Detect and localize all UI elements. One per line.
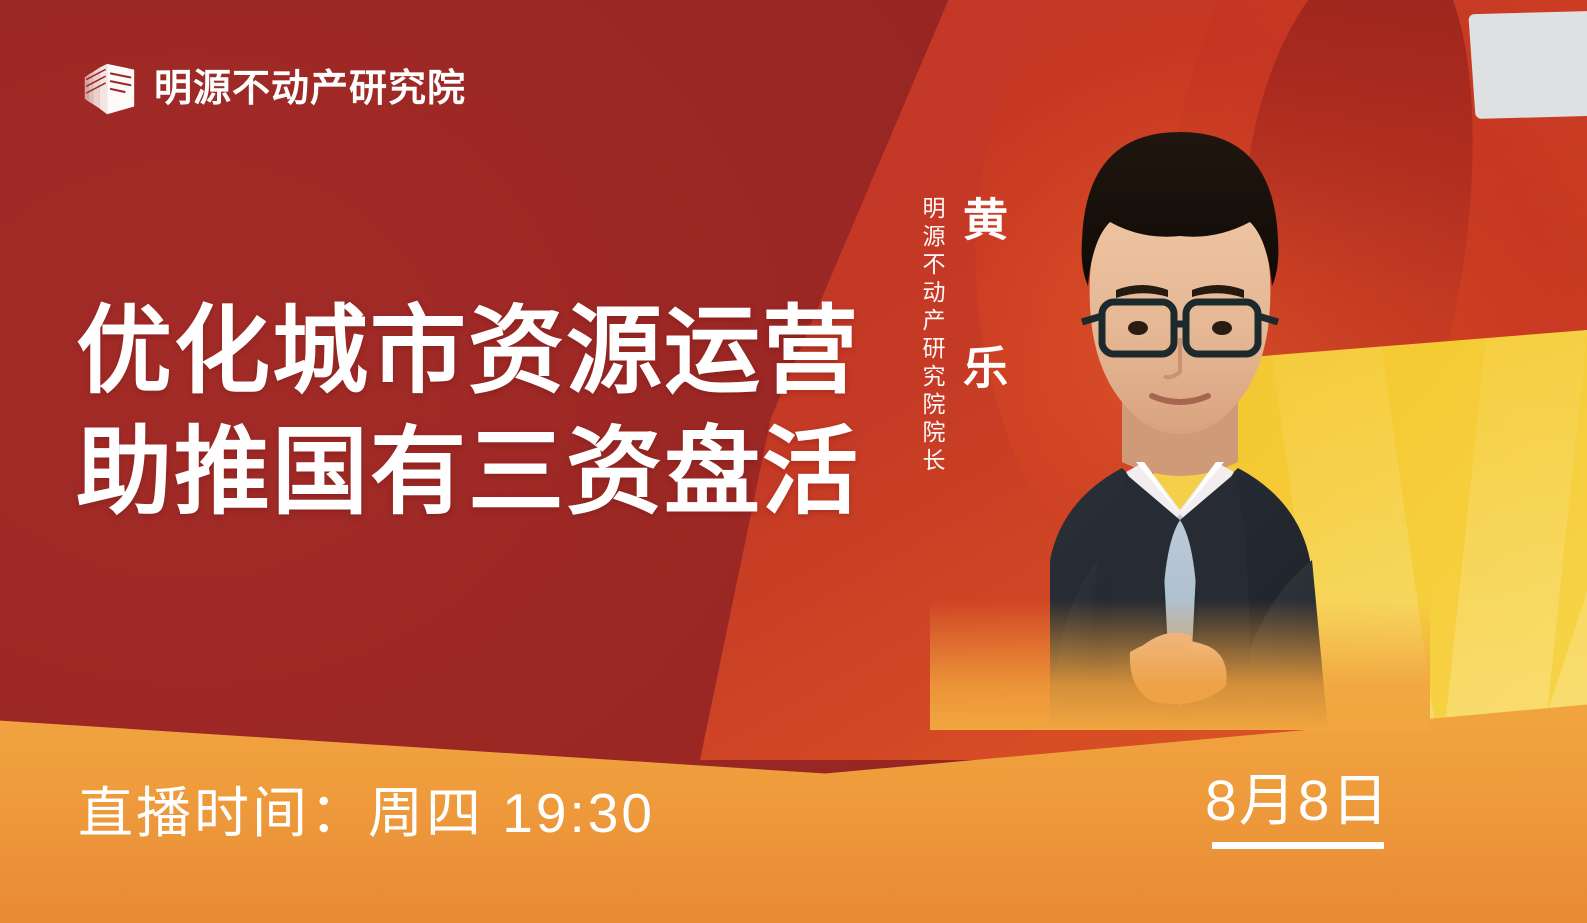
headline-line-1: 优化城市资源运营 [76,292,860,413]
portrait-bottom-fade [930,600,1430,730]
speaker-role: 明源不动产研究院院长 [920,196,943,476]
webinar-promo-poster: 明源不动产研究院 优化城市资源运营 助推国有三资盘活 明源不动产研究院院长 黄 … [0,0,1587,923]
headline-line-2: 助推国有三资盘活 [76,413,860,534]
event-date-underline [1212,842,1384,849]
event-date-text: 8月8日 [1205,772,1390,832]
book-stack-icon [78,58,140,120]
page-title: 优化城市资源运营 助推国有三资盘活 [76,292,860,534]
speaker-info: 明源不动产研究院院长 黄 乐 [920,196,1004,476]
event-date: 8月8日 [1205,772,1390,849]
live-time-text: 直播时间：周四 19:30 [78,768,655,848]
brand-logo[interactable]: 明源不动产研究院 [78,58,466,120]
brand-logo-text: 明源不动产研究院 [154,70,466,108]
speaker-name: 黄 乐 [959,196,1004,415]
white-ribbon-decor [1468,10,1587,119]
